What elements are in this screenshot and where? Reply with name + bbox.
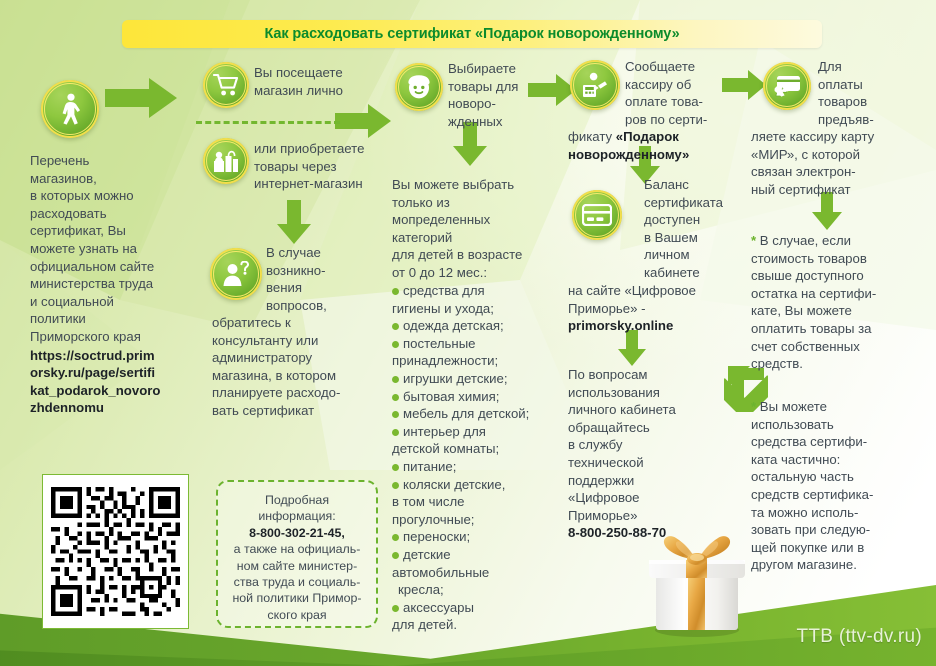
list-item-cont: детской комнаты; — [392, 440, 552, 458]
balance-site-link[interactable]: primorsky.online — [568, 317, 744, 335]
walking-person-icon — [56, 93, 84, 125]
col3-line: товары для — [448, 78, 540, 96]
list-item: переноски; — [392, 528, 552, 546]
col5-pay-head: Для оплаты товаров предъяв- — [818, 58, 888, 128]
col4-line: технической — [568, 454, 728, 472]
col5-line: средств. — [751, 355, 929, 373]
col1-url-line: kat_podarok_novoro — [30, 382, 190, 400]
col1-line: в которых можно — [30, 187, 190, 205]
details-info-box: Подробная информация: 8-800-302-21-45, а… — [216, 480, 378, 628]
list-item: одежда детская; — [392, 317, 552, 335]
arrow-right-2 — [335, 104, 391, 138]
col5-line: ный сертификат — [751, 181, 927, 199]
badge-card-payment — [763, 62, 811, 110]
col5-line: ката частично: — [751, 451, 929, 469]
col4-line: Баланс — [644, 176, 748, 194]
col1-line: магазинов, — [30, 170, 190, 188]
arrow-right-1 — [105, 78, 177, 118]
col2-line: Вы посещаете — [254, 64, 384, 82]
col3-line: от 0 до 12 мес.: — [392, 264, 552, 282]
col2-line: возникно- — [266, 262, 386, 280]
col4-line: доступен — [644, 211, 748, 229]
card-payment-icon — [773, 75, 801, 97]
list-item-cont: принадлежности; — [392, 352, 552, 370]
col4-line: личного кабинета — [568, 401, 728, 419]
badge-internet-shop — [203, 138, 249, 184]
col3-line: только из — [392, 194, 552, 212]
col3-line: Выбираете — [448, 60, 540, 78]
col2-line: обратитесь к — [212, 314, 388, 332]
col4-line: на сайте «Цифровое — [568, 282, 744, 300]
page-title: Как расходовать сертификат «Подарок ново… — [264, 26, 679, 42]
col5-line: кате, Вы можете — [751, 302, 929, 320]
list-item-cont: прогулочные; — [392, 511, 552, 529]
col2-line: магазина, в котором — [212, 367, 388, 385]
infobox-line: ства труда и социаль- — [226, 574, 368, 590]
list-item-cont: гигиены и ухода; — [392, 300, 552, 318]
col2-line: вать сертификат — [212, 402, 388, 420]
col2-line: консультанту или — [212, 332, 388, 350]
col5-line: щей покупке или в — [751, 539, 929, 557]
col4-line: «Цифровое — [568, 489, 728, 507]
col4-line: сертификата — [644, 194, 748, 212]
col4-line: в службу — [568, 436, 728, 454]
col5-line: товаров — [818, 93, 888, 111]
infobox-line: Подробная — [226, 492, 368, 508]
col4-line: обращайтесь — [568, 419, 728, 437]
infobox-line: ном сайте министер- — [226, 558, 368, 574]
col1-line: можете узнать на — [30, 240, 190, 258]
col5-line: счет собственных — [751, 338, 929, 356]
col1-line: министерства труда — [30, 275, 190, 293]
col4-line: оплате това- — [625, 93, 727, 111]
col2-line: планируете расходо- — [212, 384, 388, 402]
col5-line: оплаты — [818, 76, 888, 94]
certificate-name: «Подарок — [616, 129, 679, 144]
col4-balance-body: на сайте «Цифровое Приморье» - primorsky… — [568, 282, 744, 335]
col1-url-link[interactable]: https://soctrud.prim orsky.ru/page/serti… — [30, 347, 190, 417]
col4-line: использования — [568, 384, 728, 402]
infobox-line: информация: — [226, 508, 368, 524]
list-item: коляски детские, — [392, 476, 552, 494]
badge-card-balance — [572, 190, 622, 240]
list-item-cont: для детей. — [392, 616, 552, 634]
certificate-name-cont: новорожденному» — [568, 146, 740, 164]
col1-url-line: zhdennomu — [30, 399, 190, 417]
col1-line: расходовать — [30, 205, 190, 223]
col5-line: связан электрон- — [751, 163, 927, 181]
infobox-line: а также на официаль- — [226, 541, 368, 557]
col4-line: По вопросам — [568, 366, 728, 384]
col5-line: ляете кассиру карту — [751, 128, 927, 146]
arrow-down-col4-support — [618, 330, 646, 366]
col2-line: вопросов, — [266, 297, 386, 315]
page-title-banner: Как расходовать сертификат «Подарок ново… — [122, 20, 822, 48]
list-item-cont: кресла; — [392, 581, 552, 599]
col2-line: или приобретаете — [254, 140, 386, 158]
col5-line: «МИР», с которой — [751, 146, 927, 164]
col2-visit-store-text: Вы посещаете магазин лично — [254, 64, 384, 99]
col2-question-body: обратитесь к консультанту или администра… — [212, 314, 388, 420]
col4-line: фикату — [568, 129, 616, 144]
gift-box-graphic — [638, 530, 756, 638]
col5-note-1: * В случае, если стоимость товаров свыше… — [751, 232, 929, 373]
badge-walking — [41, 80, 99, 138]
col2-line: В случае — [266, 244, 386, 262]
col5-line: средства сертифи- — [751, 433, 929, 451]
col5-line: Для — [818, 58, 888, 76]
col5-line: остатка на сертифи- — [751, 285, 929, 303]
baby-face-icon — [405, 74, 433, 100]
col5-line: свыше доступного — [751, 267, 929, 285]
col1-line: и социальной — [30, 293, 190, 311]
watermark: ТТВ (ttv-dv.ru) — [796, 626, 922, 648]
col2-line: товары через — [254, 158, 386, 176]
list-item: игрушки детские; — [392, 370, 552, 388]
col2-online-text: или приобретаете товары через интернет-м… — [254, 140, 386, 193]
col1-url-line: orsky.ru/page/sertifi — [30, 364, 190, 382]
col1-line: политики — [30, 310, 190, 328]
col5-line: стоимость товаров — [751, 250, 929, 268]
col5-note-2: * Вы можете использовать средства сертиф… — [751, 398, 929, 574]
person-question-icon — [222, 261, 250, 287]
col2-line: магазин лично — [254, 82, 384, 100]
col3-choose-text: Выбираете товары для новоро- жденных — [448, 60, 540, 130]
col4-line: кассиру об — [625, 76, 727, 94]
shopping-cart-icon — [213, 73, 239, 97]
col3-line: для детей в возрасте — [392, 246, 552, 264]
list-item: мебель для детской; — [392, 405, 552, 423]
dashed-separator — [196, 121, 340, 124]
col2-line: вения — [266, 279, 386, 297]
badge-baby — [395, 63, 443, 111]
col4-line: кабинете — [644, 264, 748, 282]
col2-question-head: В случае возникно- вения вопросов, — [266, 244, 386, 314]
infobox-phone[interactable]: 8-800-302-21-45, — [226, 525, 368, 541]
badge-cashier — [570, 60, 620, 110]
col1-line: официальном сайте — [30, 258, 190, 276]
list-item-cont: автомобильные — [392, 564, 552, 582]
col1-line: Приморского края — [30, 328, 190, 346]
col5-line: предъяв- — [818, 111, 888, 129]
col1-description: Перечень магазинов, в которых можно расх… — [30, 152, 190, 417]
arrow-down-col2 — [277, 200, 311, 244]
col2-line: интернет-магазин — [254, 175, 386, 193]
badge-question — [210, 248, 262, 300]
col4-inform-head: Сообщаете кассиру об оплате това- ров по… — [625, 58, 727, 128]
infobox-line: ского края — [226, 607, 368, 623]
col4-line: Приморье» — [568, 507, 728, 525]
list-item: детские — [392, 546, 552, 564]
col4-line: Приморье» - — [568, 300, 744, 318]
col5-line: зовать при следую- — [751, 521, 929, 539]
col1-url-line: https://soctrud.prim — [30, 347, 190, 365]
arrow-right-4 — [722, 70, 766, 100]
col1-line: Перечень — [30, 152, 190, 170]
col4-line: ров по серти- — [625, 111, 727, 129]
list-item-cont: в том числе — [392, 493, 552, 511]
list-item: интерьер для — [392, 423, 552, 441]
col2-line: администратору — [212, 349, 388, 367]
col5-line: использовать — [751, 416, 929, 434]
badge-shopping-cart — [203, 62, 249, 108]
col5-line: В случае, если — [756, 233, 851, 248]
col5-line: Вы можете — [756, 399, 827, 414]
list-item: бытовая химия; — [392, 388, 552, 406]
col5-line: та можно исполь- — [751, 504, 929, 522]
col5-line: средств сертифика- — [751, 486, 929, 504]
col3-intro: Вы можете выбрать только из мопределенны… — [392, 176, 552, 282]
list-item: постельные — [392, 335, 552, 353]
qr-code-graphic — [51, 487, 180, 616]
list-item: аксессуары — [392, 599, 552, 617]
col4-line: поддержки — [568, 472, 728, 490]
col5-line: другом магазине. — [751, 556, 929, 574]
qr-code[interactable] — [42, 474, 189, 629]
col3-line: мопределенных — [392, 211, 552, 229]
gift-box-illustration — [638, 530, 756, 638]
col3-line: Вы можете выбрать — [392, 176, 552, 194]
col5-line: оплатить товары за — [751, 320, 929, 338]
internet-shop-icon — [213, 149, 239, 173]
col4-support: По вопросам использования личного кабине… — [568, 366, 728, 542]
col4-line: в Вашем — [644, 229, 748, 247]
col3-line: жденных — [448, 113, 540, 131]
col4-inform-tail: фикату «Подарок новорожденному» — [568, 128, 740, 163]
col3-line: новоро- — [448, 95, 540, 113]
bank-card-icon — [582, 204, 612, 226]
infobox-line: ной политики Примор- — [226, 590, 368, 606]
col3-line: категорий — [392, 229, 552, 247]
list-item: средства для — [392, 282, 552, 300]
col5-line: остальную часть — [751, 468, 929, 486]
col3-category-list: средства для гигиены и ухода; одежда дет… — [392, 282, 552, 634]
col4-balance-head: Баланс сертификата доступен в Вашем личн… — [644, 176, 748, 282]
col4-line: Сообщаете — [625, 58, 727, 76]
col4-line: личном — [644, 246, 748, 264]
col1-line: сертификат, Вы — [30, 222, 190, 240]
col5-pay-body: ляете кассиру карту «МИР», с которой свя… — [751, 128, 927, 198]
cashier-icon — [581, 72, 609, 98]
list-item: питание; — [392, 458, 552, 476]
